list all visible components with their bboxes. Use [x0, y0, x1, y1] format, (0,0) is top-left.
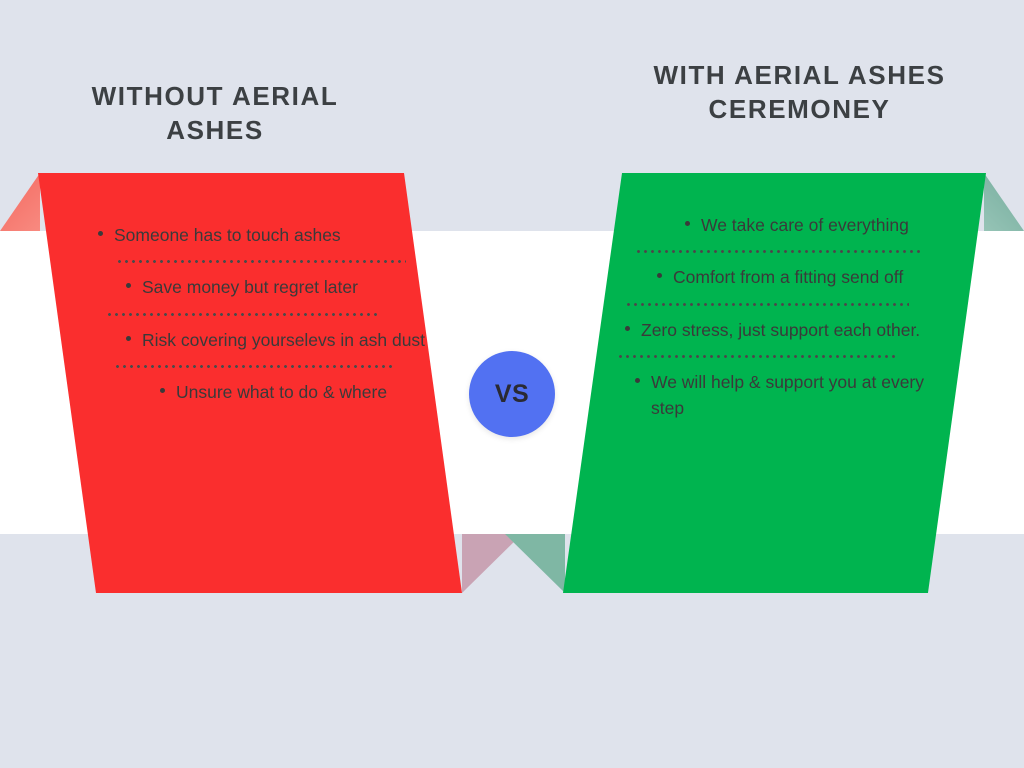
- list-item-label: Unsure what to do & where: [176, 380, 434, 405]
- ribbon-wing-left-bottom-icon: [462, 534, 522, 593]
- dotted-divider: [625, 303, 909, 306]
- dotted-divider: [106, 313, 381, 316]
- bullet-dot-icon: [657, 273, 673, 278]
- left-panel: Someone has to touch ashes Save money bu…: [38, 173, 462, 593]
- list-item-label: Save money but regret later: [142, 275, 434, 300]
- dotted-divider: [114, 365, 392, 368]
- list-item: Risk covering yourselevs in ash dust: [126, 328, 434, 353]
- dotted-divider: [617, 355, 899, 358]
- ribbon-wing-right-top-icon: [984, 173, 1024, 231]
- bullet-dot-icon: [98, 231, 114, 236]
- list-item-label: We take care of everything: [701, 213, 946, 238]
- vs-badge: VS: [469, 351, 555, 437]
- left-panel-list: Someone has to touch ashes Save money bu…: [38, 173, 462, 593]
- bullet-dot-icon: [126, 336, 142, 341]
- bullet-dot-icon: [160, 388, 176, 393]
- dotted-divider: [116, 260, 406, 263]
- list-item: Unsure what to do & where: [160, 380, 434, 405]
- list-item-label: Someone has to touch ashes: [114, 223, 434, 248]
- ribbon-wing-left-top-icon: [0, 173, 40, 231]
- comparison-infographic: WITHOUT AERIAL ASHES WITH AERIAL ASHES C…: [0, 0, 1024, 768]
- right-panel-heading: WITH AERIAL ASHES CEREMONEY: [622, 59, 977, 127]
- list-item: We will help & support you at every step: [635, 370, 946, 421]
- bullet-dot-icon: [126, 283, 142, 288]
- bullet-dot-icon: [625, 326, 641, 331]
- right-panel-list: We take care of everything Comfort from …: [563, 173, 986, 593]
- list-item: Comfort from a fitting send off: [657, 265, 946, 290]
- vs-badge-label: VS: [495, 380, 529, 409]
- dotted-divider: [635, 250, 923, 253]
- list-item: Save money but regret later: [126, 275, 434, 300]
- list-item-label: Risk covering yourselevs in ash dust: [142, 328, 434, 353]
- ribbon-wing-right-bottom-icon: [505, 534, 565, 593]
- bullet-dot-icon: [685, 221, 701, 226]
- left-panel-heading: WITHOUT AERIAL ASHES: [40, 80, 390, 148]
- list-item: Someone has to touch ashes: [98, 223, 434, 248]
- list-item-label: Comfort from a fitting send off: [673, 265, 946, 290]
- bullet-dot-icon: [635, 378, 651, 383]
- list-item: Zero stress, just support each other.: [625, 318, 946, 343]
- list-item-label: We will help & support you at every step: [651, 370, 946, 421]
- list-item-label: Zero stress, just support each other.: [641, 318, 946, 343]
- right-panel: We take care of everything Comfort from …: [563, 173, 986, 593]
- list-item: We take care of everything: [685, 213, 946, 238]
